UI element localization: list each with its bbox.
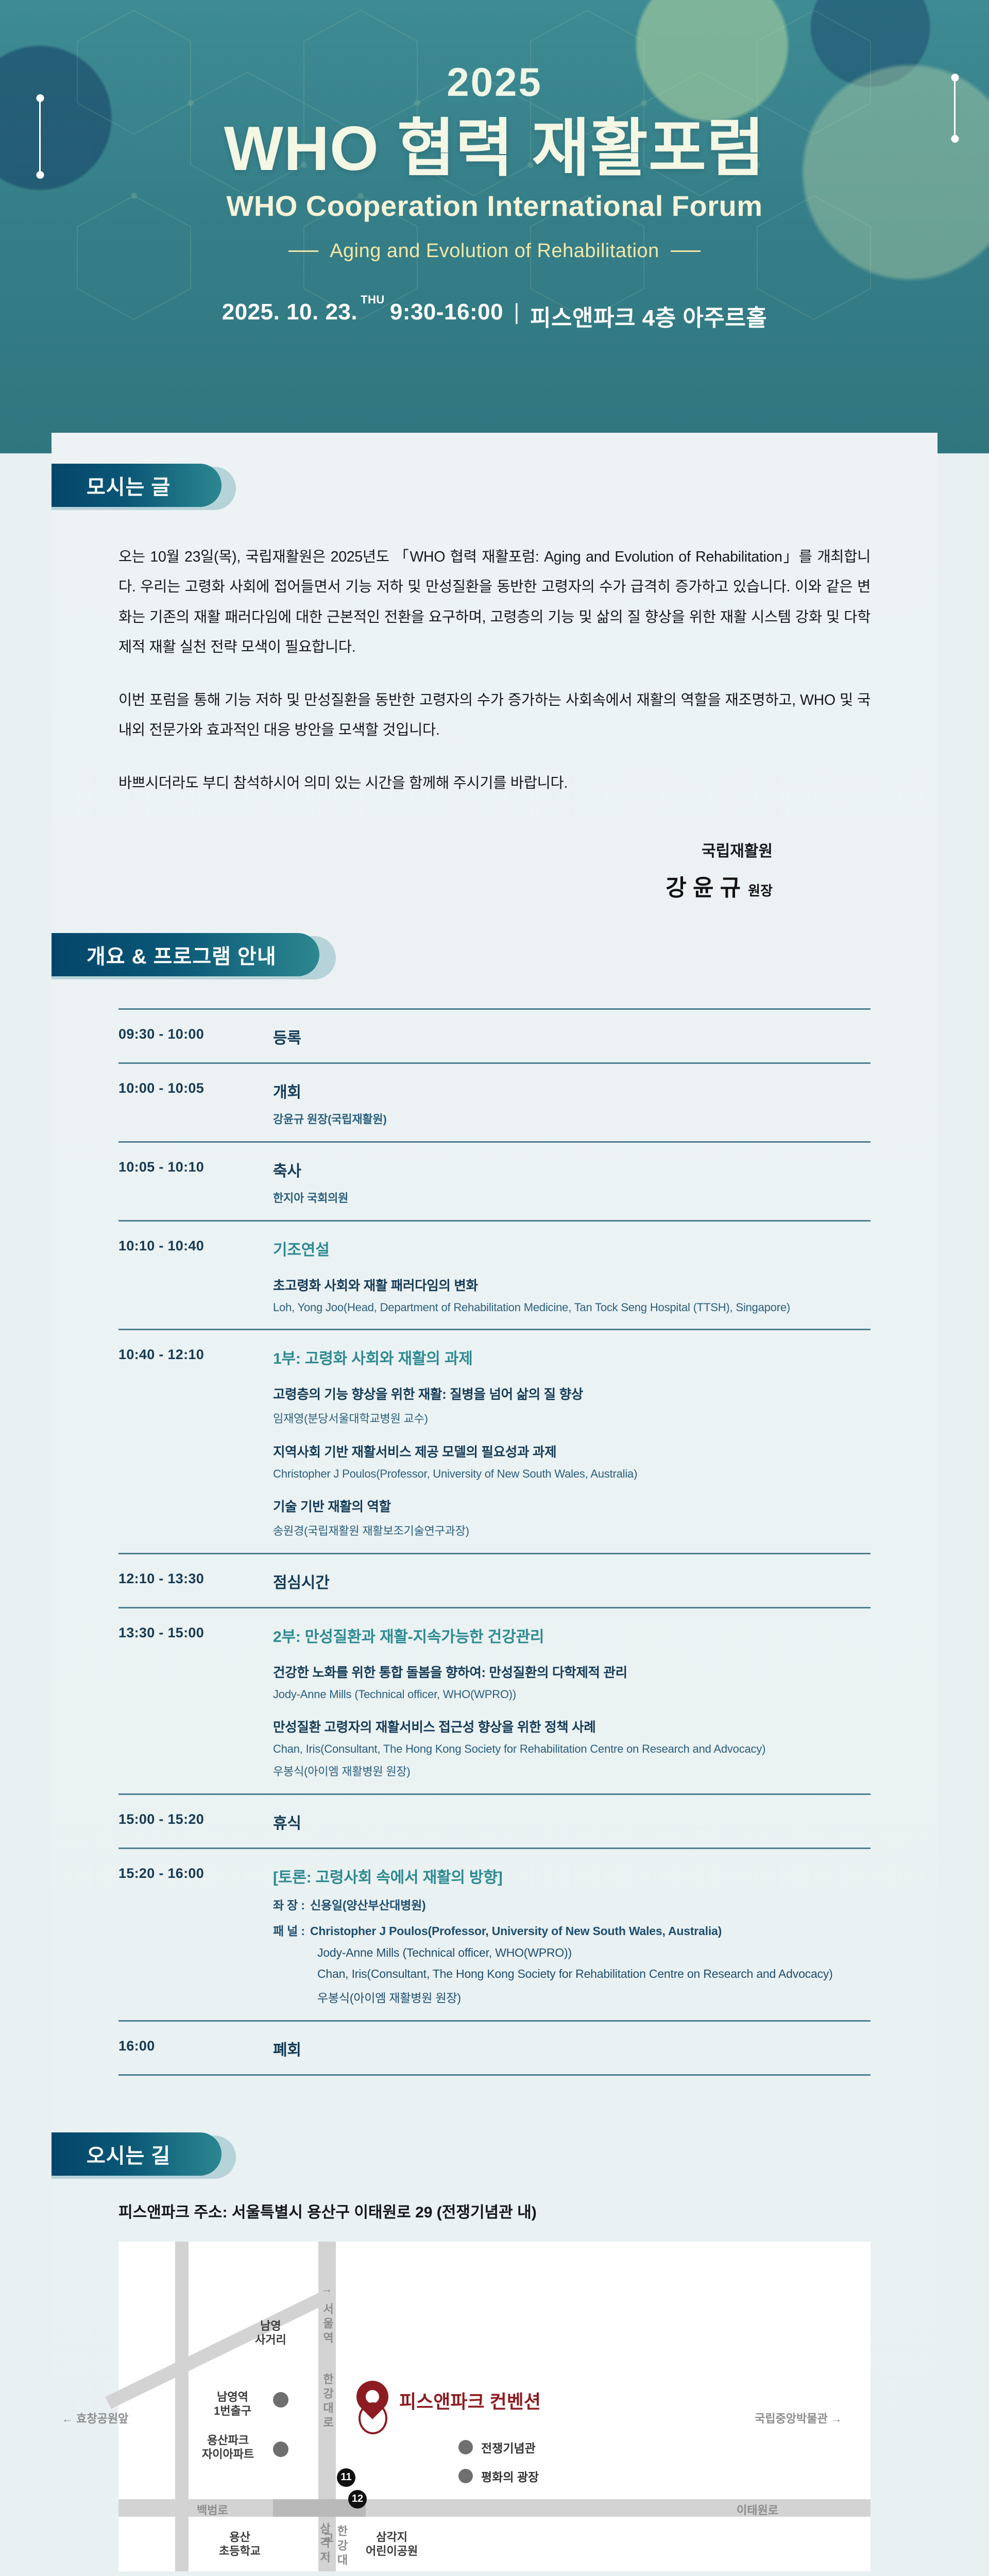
map-exit-12: 12	[348, 2490, 367, 2509]
road-vertical-lower	[175, 2517, 189, 2571]
directions-header-label: 오시는 길	[52, 2139, 170, 2169]
map-venue-pin-label: 피스앤파크 컨벤션	[399, 2387, 541, 2414]
session-item: 건강한 노화를 위한 통합 돌봄을 향하여: 만성질환의 다학제적 관리 Jod…	[273, 1662, 871, 1701]
event-weekday: THU	[361, 293, 385, 307]
panelist-1: Christopher J Poulos(Professor, Universi…	[310, 1924, 722, 1938]
row-body: 축사 한지아 국회의원	[273, 1158, 871, 1206]
row-title: 개회	[273, 1079, 871, 1102]
session-item: 고령층의 기능 향상을 위한 재활: 질병을 넘어 삶의 질 향상 임재영(분당…	[273, 1384, 871, 1426]
greeting-paragraph-2: 이번 포럼을 통해 기능 저하 및 만성질환을 동반한 고령자의 수가 증가하는…	[118, 685, 871, 745]
greeting-paragraph-1: 오는 10월 23일(목), 국립재활원은 2025년도 「WHO 협력 재활포…	[118, 542, 871, 663]
row-title: 휴식	[273, 1810, 871, 1833]
session-item: 만성질환 고령자의 재활서비스 접근성 향상을 위한 정책 사례 Chan, I…	[273, 1717, 871, 1779]
row-body: 점심시간	[273, 1570, 871, 1592]
transport-section: 교통편 🚗 자가용 이용 시 강변북로 방면 강변북로 → 한남대교 → 이태원…	[52, 2571, 937, 2576]
date-separator: |	[514, 299, 520, 325]
map-legend-peace-plaza: 평화의 광장	[458, 2467, 539, 2485]
panelist-3: Chan, Iris(Consultant, The Hong Kong Soc…	[273, 1967, 871, 1981]
map-label-baekbeom-ro: 백범로	[197, 2503, 228, 2518]
row-time: 09:30 - 10:00	[118, 1025, 273, 1048]
hero-year: 2025	[0, 62, 989, 102]
map-label-yongsan-elementary: 용산초등학교	[219, 2530, 261, 2558]
signature-block: 국립재활원 강 윤 규원장	[118, 821, 871, 902]
session-item-speaker: Christopher J Poulos(Professor, Universi…	[273, 1467, 871, 1481]
dash-right-icon	[671, 250, 701, 252]
map-dot-yongsan-park	[273, 2442, 288, 2457]
map-label-itaewon-ro: 이태원로	[737, 2503, 778, 2518]
legend-label: 평화의 광장	[481, 2467, 539, 2485]
table-row: 10:05 - 10:10 축사 한지아 국회의원	[118, 1141, 871, 1220]
session-item-title: 기술 기반 재활의 역할	[273, 1496, 871, 1515]
pin-ring	[359, 2402, 387, 2434]
row-time: 15:20 - 16:00	[118, 1865, 273, 2006]
row-body: 개회 강윤규 원장(국립재활원)	[273, 1079, 871, 1127]
panel-chair-row: 좌 장 :신용일(양산부산대병원)	[273, 1895, 871, 1913]
table-row: 15:00 - 15:20 휴식	[118, 1793, 871, 1848]
row-time: 12:10 - 13:30	[118, 1570, 273, 1592]
content-card: 모시는 글 오는 10월 23일(목), 국립재활원은 2025년도 「WHO …	[52, 433, 937, 2576]
row-time: 10:40 - 12:10	[118, 1346, 273, 1538]
header-bar: 개요 & 프로그램 안내	[52, 933, 319, 976]
panel-chair-name: 신용일(양산부산대병원)	[310, 1899, 426, 1912]
session-item-speaker: 송원경(국립재활원 재활보조기술연구과장)	[273, 1522, 871, 1538]
map-label-yongsan-park: 용산파크자이아파트	[202, 2433, 254, 2462]
table-row: 09:30 - 10:00 등록	[118, 1008, 871, 1062]
session-item-speaker: Chan, Iris(Consultant, The Hong Kong Soc…	[273, 1742, 871, 1756]
program-section-header: 개요 & 프로그램 안내	[52, 933, 937, 979]
map-label-samgakji-kids: 삼각지어린이공원	[366, 2530, 418, 2558]
table-row-panel: 15:20 - 16:00 [토론: 고령사회 속에서 재활의 방향] 좌 장 …	[118, 1848, 871, 2020]
session-item-speaker: Jody-Anne Mills (Technical officer, WHO(…	[273, 1688, 871, 1701]
panelist-2: Jody-Anne Mills (Technical officer, WHO(…	[273, 1946, 871, 1960]
panel-chair-label: 좌 장 :	[273, 1895, 310, 1913]
row-time: 10:05 - 10:10	[118, 1158, 273, 1206]
greeting-header-label: 모시는 글	[52, 470, 170, 500]
row-body: 기조연설 초고령화 사회와 재활 패러다임의 변화 Loh, Yong Joo(…	[273, 1237, 871, 1314]
table-row: 10:00 - 10:05 개회 강윤규 원장(국립재활원)	[118, 1062, 871, 1141]
map-label-samgakji: 삼각지	[317, 2522, 332, 2566]
table-row: 10:40 - 12:10 1부: 고령화 사회와 재활의 과제 고령층의 기능…	[118, 1329, 871, 1553]
event-venue: 피스앤파크 4층 아주르홀	[530, 299, 767, 332]
greeting-paragraph-3: 바쁘시더라도 부디 참석하시어 의미 있는 시간을 함께해 주시기를 바랍니다.	[118, 768, 871, 798]
map-dot-namyeong-exit	[273, 2392, 288, 2408]
row-body: 2부: 만성질환과 재활-지속가능한 건강관리 건강한 노화를 위한 통합 돌봄…	[273, 1624, 871, 1779]
row-body: 휴식	[273, 1810, 871, 1833]
program-header-label: 개요 & 프로그램 안내	[52, 940, 277, 970]
table-row: 10:10 - 10:40 기조연설 초고령화 사회와 재활 패러다임의 변화 …	[118, 1220, 871, 1329]
table-row: 16:00 폐회	[118, 2020, 871, 2076]
map-label-hyochang-park: ← 효창공원앞	[62, 2412, 128, 2426]
session-item-speaker: Loh, Yong Joo(Head, Department of Rehabi…	[273, 1301, 871, 1314]
session-item-title: 고령층의 기능 향상을 위한 재활: 질병을 넘어 삶의 질 향상	[273, 1384, 871, 1403]
row-title: 축사	[273, 1158, 871, 1181]
session-item-speaker: 임재영(분당서울대학교병원 교수)	[273, 1410, 871, 1426]
program-table: 09:30 - 10:00 등록 10:00 - 10:05 개회 강윤규 원장…	[52, 979, 937, 2076]
session-item-title: 초고령화 사회와 재활 패러다임의 변화	[273, 1275, 871, 1294]
session-item-title: 만성질환 고령자의 재활서비스 접근성 향상을 위한 정책 사례	[273, 1717, 871, 1736]
row-speaker: 강윤규 원장(국립재활원)	[273, 1110, 871, 1127]
session-item: 기술 기반 재활의 역할 송원경(국립재활원 재활보조기술연구과장)	[273, 1496, 871, 1538]
panel-panelist-row: 패 널 :Christopher J Poulos(Professor, Uni…	[273, 1921, 871, 1939]
row-title: 등록	[273, 1025, 871, 1048]
hero-title-ko: WHO 협력 재활포럼	[0, 113, 989, 184]
row-time: 10:10 - 10:40	[118, 1237, 273, 1314]
row-title: 폐회	[273, 2037, 871, 2060]
row-time: 10:00 - 10:05	[118, 1079, 273, 1127]
panelist-4: 우봉식(아이엠 재활병원 원장)	[273, 1988, 871, 2006]
row-title: 점심시간	[273, 1570, 871, 1592]
session-item: 지역사회 기반 재활서비스 제공 모델의 필요성과 과제 Christopher…	[273, 1442, 871, 1481]
hero-subtitle: Aging and Evolution of Rehabilitation	[330, 240, 659, 262]
map-label-seoul-station: ↑ 서울역	[320, 2288, 335, 2346]
row-title: 1부: 고령화 사회와 재활의 과제	[273, 1346, 871, 1368]
row-body: 1부: 고령화 사회와 재활의 과제 고령층의 기능 향상을 위한 재활: 질병…	[273, 1346, 871, 1538]
event-time: 9:30-16:00	[390, 299, 503, 325]
map-legend-war-memorial: 전쟁기념관	[458, 2438, 536, 2456]
table-row: 12:10 - 13:30 점심시간	[118, 1553, 871, 1607]
map-label-namyeong-exit: 남영역1번출구	[214, 2390, 251, 2418]
venue-map: ↑ 서울역 한강대로 한강대교 ↓ 남영사거리 남영역1번출구 용산파크자이아파…	[118, 2242, 871, 2571]
panel-panelists-label: 패 널 :	[273, 1921, 310, 1939]
row-body: 폐회	[273, 2037, 871, 2060]
venue-address: 피스앤파크 주소: 서울특별시 용산구 이태원로 29 (전쟁기념관 내)	[52, 2179, 937, 2222]
event-date: 2025. 10. 23.	[222, 299, 357, 325]
map-venue-pin-icon	[356, 2381, 388, 2413]
row-time: 16:00	[118, 2037, 273, 2060]
session-item-title: 지역사회 기반 재활서비스 제공 모델의 필요성과 과제	[273, 1442, 871, 1461]
dash-left-icon	[288, 250, 318, 252]
header-bar: 오시는 길	[52, 2132, 221, 2176]
legend-dot-icon	[458, 2469, 473, 2483]
legend-dot-icon	[458, 2440, 473, 2454]
session-item: 초고령화 사회와 재활 패러다임의 변화 Loh, Yong Joo(Head,…	[273, 1275, 871, 1314]
row-speaker: 한지아 국회의원	[273, 1189, 871, 1206]
row-body: [토론: 고령사회 속에서 재활의 방향] 좌 장 :신용일(양산부산대병원) …	[273, 1865, 871, 2006]
header-bar: 모시는 글	[52, 464, 221, 507]
signature-name-row: 강 윤 규원장	[118, 869, 773, 902]
signature-org: 국립재활원	[118, 838, 773, 861]
hero-subtitle-row: Aging and Evolution of Rehabilitation	[0, 240, 989, 262]
row-title: 2부: 만성질환과 재활-지속가능한 건강관리	[273, 1624, 871, 1647]
row-time: 13:30 - 15:00	[118, 1624, 273, 1779]
hero-banner: 2025 WHO 협력 재활포럼 WHO Cooperation Interna…	[0, 0, 989, 453]
hero-date-venue: 2025. 10. 23. THU 9:30-16:00 | 피스앤파크 4층 …	[0, 299, 989, 332]
panel-title: [토론: 고령사회 속에서 재활의 방향]	[273, 1865, 871, 1887]
session-item-speaker-extra: 우봉식(아이엠 재활병원 원장)	[273, 1762, 871, 1779]
row-body: 등록	[273, 1025, 871, 1048]
signature-name: 강 윤 규	[666, 875, 741, 901]
session-item-title: 건강한 노화를 위한 통합 돌봄을 향하여: 만성질환의 다학제적 관리	[273, 1662, 871, 1681]
row-time: 15:00 - 15:20	[118, 1810, 273, 1833]
greeting-body: 오는 10월 23일(목), 국립재활원은 2025년도 「WHO 협력 재활포…	[52, 510, 937, 902]
table-row: 13:30 - 15:00 2부: 만성질환과 재활-지속가능한 건강관리 건강…	[118, 1607, 871, 1793]
greeting-section-header: 모시는 글	[52, 464, 937, 510]
map-label-namyeong-intersection: 남영사거리	[255, 2319, 286, 2347]
row-title: 기조연설	[273, 1237, 871, 1260]
map-label-national-museum: 국립중앙박물관 →	[755, 2412, 842, 2426]
directions-section-header: 오시는 길	[52, 2132, 937, 2179]
signature-role: 원장	[748, 883, 773, 899]
map-exit-11: 11	[337, 2468, 355, 2487]
hero-title-en: WHO Cooperation International Forum	[0, 189, 989, 223]
map-label-hangang-daero: 한강대로	[320, 2373, 335, 2431]
legend-label: 전쟁기념관	[481, 2438, 536, 2456]
